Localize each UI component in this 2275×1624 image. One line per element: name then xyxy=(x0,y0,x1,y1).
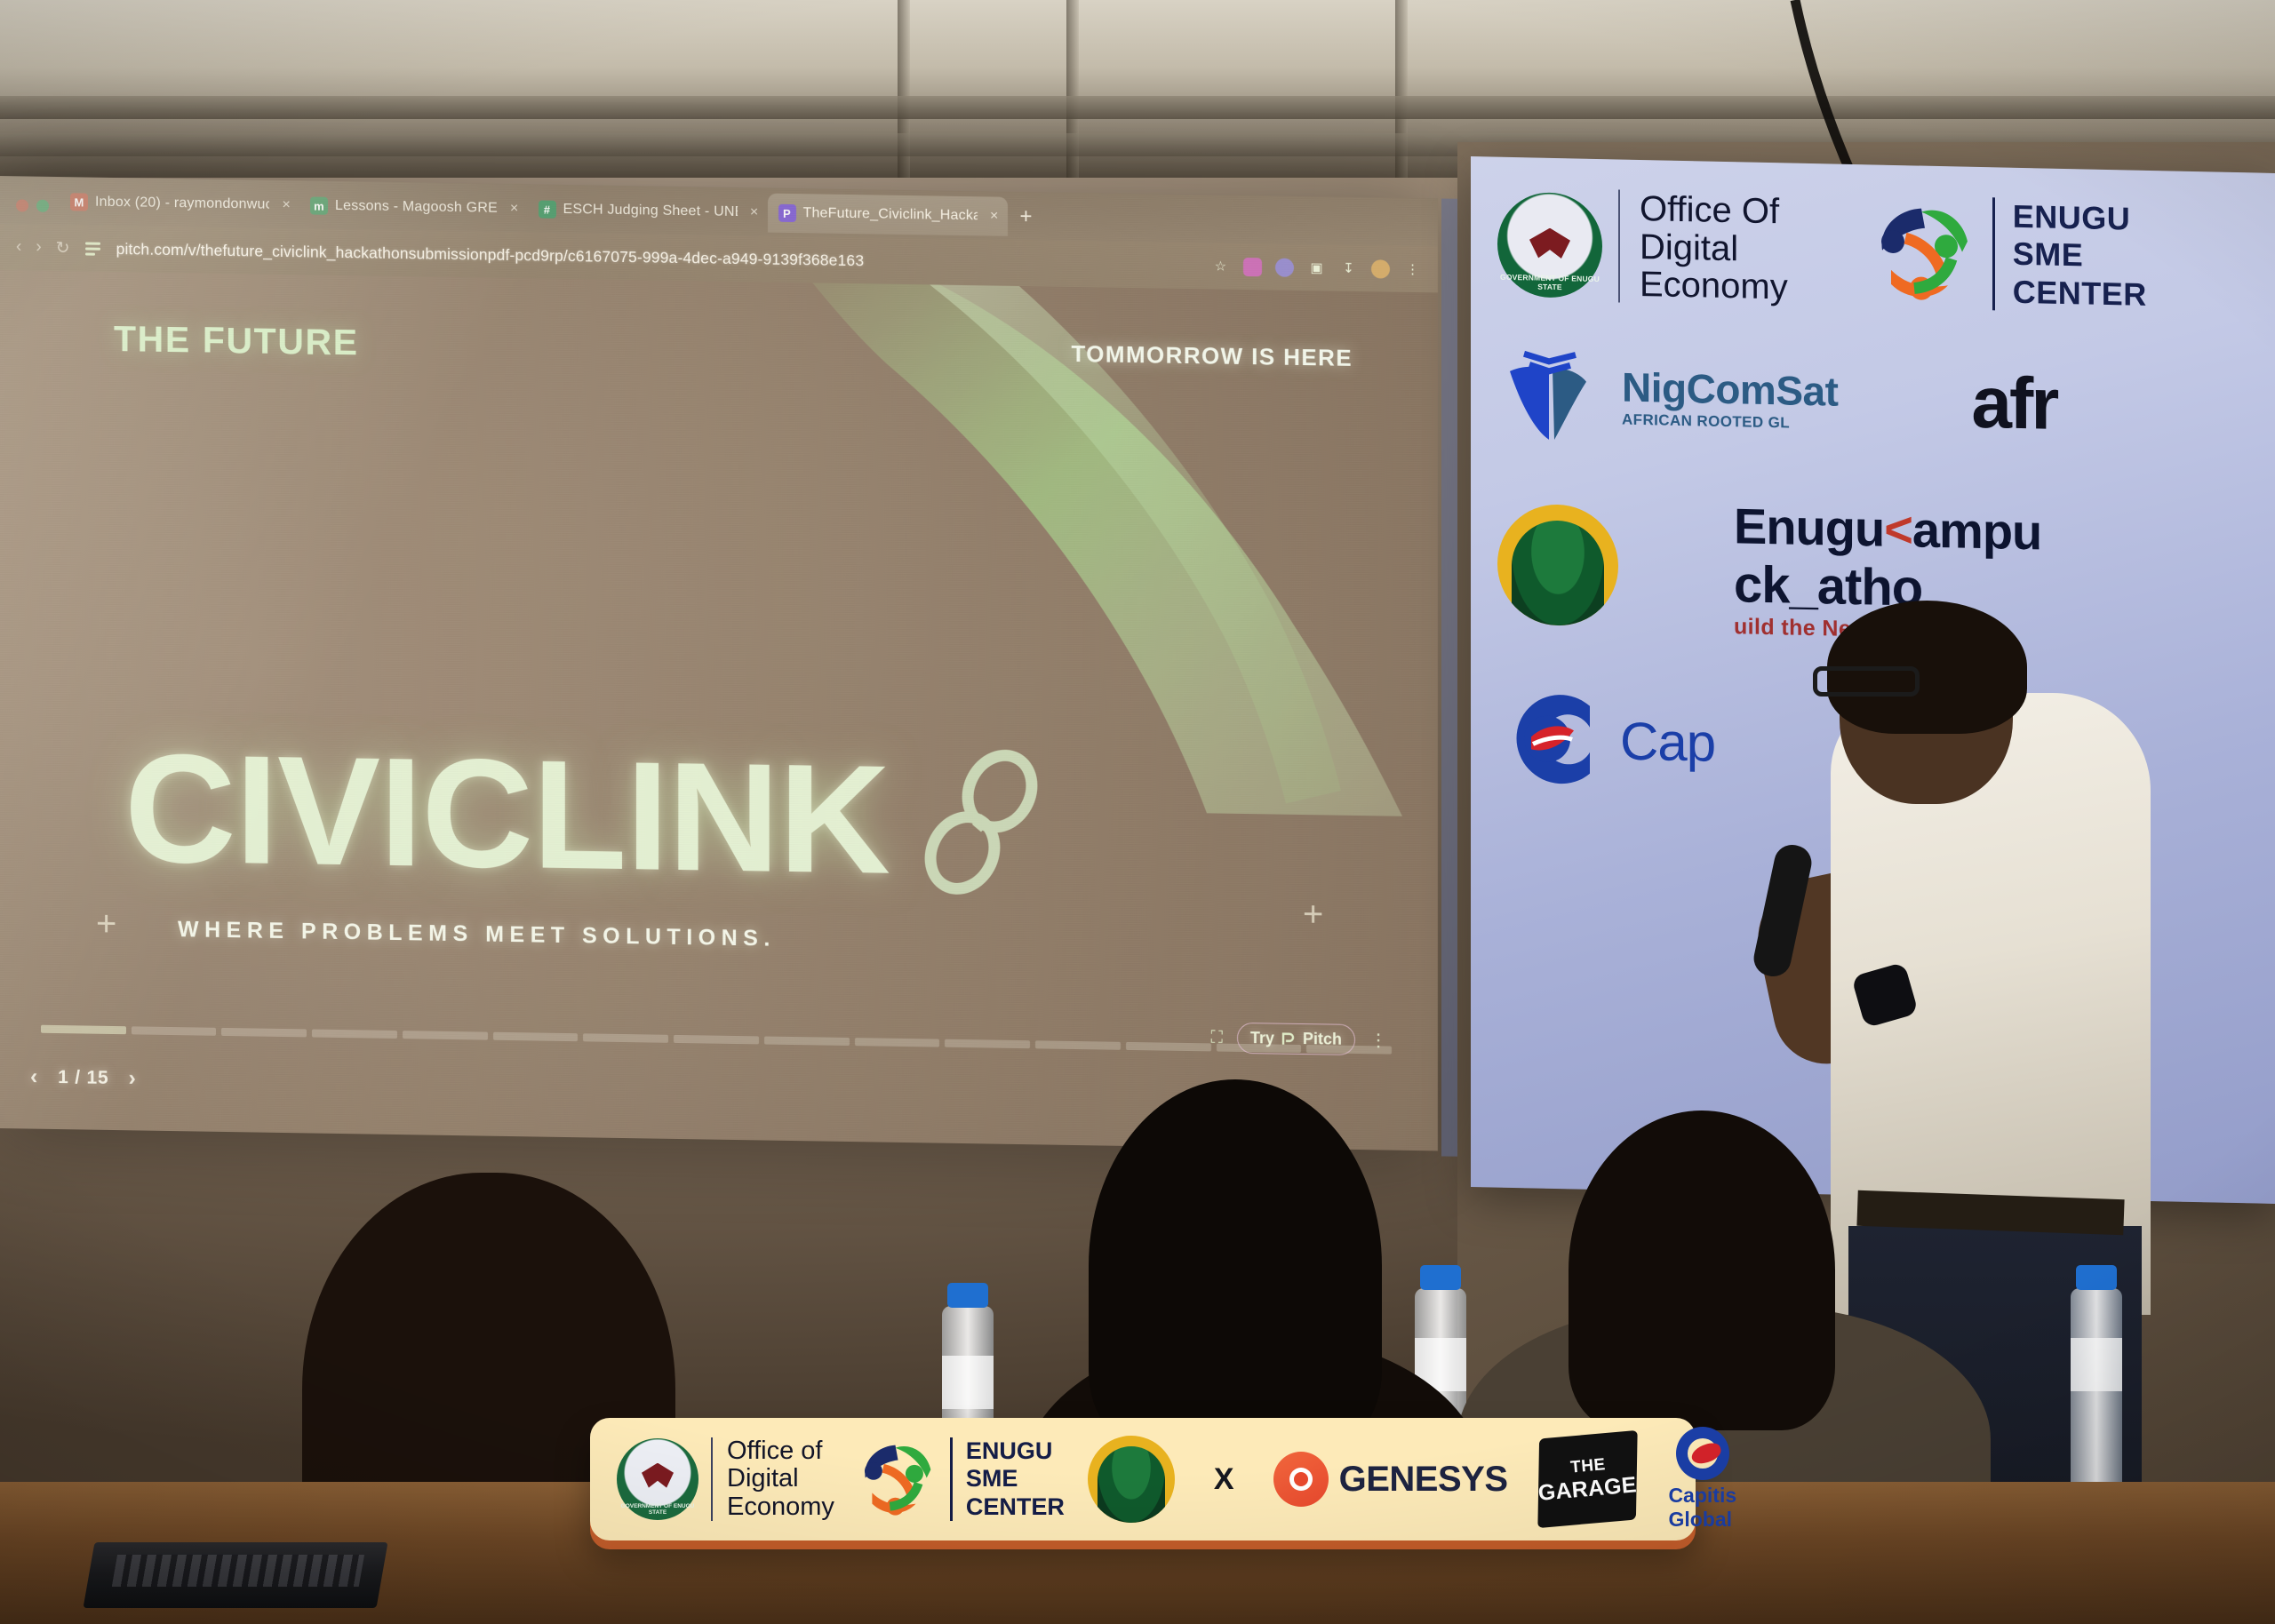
garage-line-1: THE xyxy=(1569,1455,1606,1477)
event-title-enugu: Enugu xyxy=(1734,498,1884,558)
tab-title: Inbox (20) - raymondonwuc xyxy=(95,195,269,213)
backdrop-row-1: GOVERNMENT OF ENUGU STATE Office Of Digi… xyxy=(1497,187,2248,316)
page-title: CIVICLINK xyxy=(124,741,890,886)
window-controls[interactable] xyxy=(7,199,60,221)
afr-logo-label: afr xyxy=(1971,362,2056,447)
tab-title: ESCH Judging Sheet - UNEC xyxy=(563,202,738,220)
sme-line-1: ENUGU xyxy=(2013,198,2147,239)
pitch-icon: P xyxy=(778,204,796,222)
kebab-menu-icon[interactable]: ⋮ xyxy=(1369,1029,1386,1051)
magoosh-icon: m xyxy=(310,196,328,214)
page-indicator: 1 / 15 xyxy=(58,1067,108,1089)
back-icon[interactable]: ‹ xyxy=(16,237,21,257)
progress-segment[interactable] xyxy=(221,1028,307,1038)
chain-link-icon xyxy=(913,747,1046,900)
office-of-digital-economy-label: Office of Digital Economy xyxy=(711,1437,834,1521)
laptop xyxy=(83,1542,387,1608)
extensions-puzzle-icon[interactable]: ▣ xyxy=(1307,259,1326,277)
reload-icon[interactable]: ↻ xyxy=(56,237,70,258)
capitis-global-logo-icon xyxy=(1676,1427,1729,1480)
slide-header: THE FUTURE TOMMORROW IS HERE xyxy=(0,316,1438,380)
sponsor-genesys: GENESYS xyxy=(1273,1452,1508,1507)
try-pitch-button[interactable]: Try Pitch xyxy=(1237,1023,1355,1055)
audience-member-head xyxy=(1089,1079,1382,1453)
enugu-sme-center-label: ENUGU SME CENTER xyxy=(1992,197,2147,314)
browser-toolbar-icons: ☆ ▣ ↧ ⋮ xyxy=(1211,257,1422,279)
close-tab-button[interactable]: × xyxy=(985,208,999,224)
partnership-x-separator: X xyxy=(1214,1462,1234,1497)
enugu-sme-center-logo-icon xyxy=(856,1438,938,1520)
browser-tab-judging-sheet[interactable]: # ESCH Judging Sheet - UNEC × xyxy=(528,189,768,232)
sme-line-3: CENTER xyxy=(966,1493,1065,1521)
slide-kicker-left: THE FUTURE xyxy=(114,318,359,363)
chrome-menu-kebab-icon[interactable]: ⋮ xyxy=(1403,259,1422,278)
capitis-global-logo-icon xyxy=(1497,685,1604,794)
projected-browser-window: M Inbox (20) - raymondonwuc × m Lessons … xyxy=(0,176,1438,1150)
close-tab-button[interactable]: × xyxy=(745,204,759,220)
progress-segment[interactable] xyxy=(855,1038,940,1047)
sme-line-3: CENTER xyxy=(2013,274,2147,314)
fullscreen-icon[interactable]: ⛶ xyxy=(1211,1028,1223,1047)
sponsor-enugu-sme-center: ENUGU SME CENTER xyxy=(834,1437,1065,1521)
progress-segment[interactable] xyxy=(945,1039,1030,1049)
site-info-icon[interactable] xyxy=(84,240,102,256)
extension-purple-icon[interactable] xyxy=(1275,258,1294,276)
nigeria-coat-of-arms-seal-icon: GOVERNMENT OF ENUGU STATE xyxy=(1497,191,1602,298)
browser-tab-pitch-deck[interactable]: P TheFuture_Civiclink_Hackat × xyxy=(768,194,1008,236)
ode-line-3: Economy xyxy=(727,1493,834,1521)
ode-line-3: Economy xyxy=(1640,266,1788,306)
event-title-line-1: Enugu<ampu xyxy=(1734,498,2041,561)
close-tab-button[interactable]: × xyxy=(276,197,291,213)
plus-decoration-right: + xyxy=(1303,895,1323,935)
plus-decoration-left: + xyxy=(96,904,116,944)
event-title-chevron: < xyxy=(1884,501,1912,558)
seal-ring-text: GOVERNMENT OF ENUGU STATE xyxy=(1497,272,1602,291)
progress-segment[interactable] xyxy=(493,1032,579,1042)
download-icon[interactable]: ↧ xyxy=(1339,259,1358,277)
slide-hero: CIVICLINK xyxy=(124,729,1046,900)
tab-title: TheFuture_Civiclink_Hackat xyxy=(803,205,978,224)
tab-title: Lessons - Magoosh GRE xyxy=(335,198,498,217)
genesys-label: GENESYS xyxy=(1339,1460,1508,1500)
event-title-campus: ampu xyxy=(1912,502,2041,561)
sme-line-1: ENUGU xyxy=(966,1437,1065,1465)
slide-pager: ‹ 1 / 15 › xyxy=(30,1064,137,1092)
enugu-sme-center-logo-icon xyxy=(1870,198,1976,307)
capitis-label: Cap xyxy=(1620,710,1715,773)
new-tab-button[interactable]: + xyxy=(1008,204,1045,237)
the-garage-logo-icon: THE GARAGE xyxy=(1537,1430,1637,1528)
slide-progress-bar[interactable] xyxy=(41,1025,1392,1055)
next-slide-button[interactable]: › xyxy=(128,1065,136,1091)
capitis-global-label: Capitis Global xyxy=(1668,1484,1736,1532)
genesys-logo-icon xyxy=(1273,1452,1329,1507)
gmail-icon: M xyxy=(70,193,88,211)
close-tab-button[interactable]: × xyxy=(505,201,519,217)
governor-portrait-badge-icon xyxy=(1497,504,1618,627)
profile-avatar-icon[interactable] xyxy=(1371,259,1390,278)
extension-pink-icon[interactable] xyxy=(1243,257,1262,275)
try-label: Try xyxy=(1250,1029,1274,1047)
speaker-glasses xyxy=(1813,666,1920,697)
nigeria-coat-of-arms-seal-icon: GOVERNMENT OF ENUGU STATE xyxy=(617,1438,698,1520)
sme-line-2: SME xyxy=(966,1465,1065,1493)
governor-portrait-badge-icon xyxy=(1088,1436,1175,1523)
pitch-slide: THE FUTURE TOMMORROW IS HERE CIVICLINK W… xyxy=(0,270,1438,1150)
screenshot-root: M Inbox (20) - raymondonwuc × m Lessons … xyxy=(0,0,2275,1624)
ode-line-2: Digital xyxy=(1640,227,1788,268)
forward-icon[interactable]: › xyxy=(36,238,41,258)
nigcomsat-logo-icon xyxy=(1497,341,1602,448)
pitch-brand-label: Pitch xyxy=(1303,1030,1342,1049)
progress-segment[interactable] xyxy=(583,1033,668,1043)
slide-tagline: WHERE PROBLEMS MEET SOLUTIONS. xyxy=(178,917,776,952)
office-of-digital-economy-label: Office Of Digital Economy xyxy=(1618,190,1788,306)
progress-segment[interactable] xyxy=(41,1025,126,1035)
prev-slide-button[interactable]: ‹ xyxy=(30,1064,38,1090)
ode-line-1: Office Of xyxy=(1640,190,1788,231)
bookmark-star-icon[interactable]: ☆ xyxy=(1211,257,1230,275)
browser-tab-magoosh[interactable]: m Lessons - Magoosh GRE × xyxy=(299,186,528,228)
ode-line-1: Office of xyxy=(727,1437,834,1465)
google-sheets-icon: # xyxy=(539,201,556,219)
pitch-logo-icon xyxy=(1281,1031,1296,1046)
progress-segment[interactable] xyxy=(403,1031,488,1040)
sponsor-office-of-digital-economy: GOVERNMENT OF ENUGU STATE Office of Digi… xyxy=(617,1437,834,1521)
progress-segment[interactable] xyxy=(674,1035,759,1045)
sponsor-overlay-bar: GOVERNMENT OF ENUGU STATE Office of Digi… xyxy=(590,1418,1696,1540)
nigcomsat-label: NigComSat xyxy=(1622,363,1838,416)
slide-kicker-right: TOMMORROW IS HERE xyxy=(1071,340,1353,372)
water-bottle xyxy=(2071,1288,2122,1510)
url-text[interactable]: pitch.com/v/thefuture_civiclink_hackatho… xyxy=(116,240,1197,275)
sponsor-capitis-global: Capitis Global xyxy=(1668,1427,1736,1532)
backdrop-row-2: NigComSat AFRICAN ROOTED GL afr xyxy=(1497,341,2248,462)
ode-line-2: Digital xyxy=(727,1465,834,1493)
progress-segment[interactable] xyxy=(764,1037,850,1047)
minimize-window-button[interactable] xyxy=(36,200,49,212)
progress-segment[interactable] xyxy=(1035,1040,1121,1050)
progress-segment[interactable] xyxy=(1126,1042,1211,1052)
sme-line-2: SME xyxy=(2013,235,2147,276)
slide-brand-controls: ⛶ Try Pitch ⋮ xyxy=(1211,1022,1386,1055)
garage-line-2: GARAGE xyxy=(1537,1472,1637,1507)
progress-segment[interactable] xyxy=(312,1030,397,1039)
enugu-sme-center-label: ENUGU SME CENTER xyxy=(950,1437,1065,1521)
close-window-button[interactable] xyxy=(16,199,28,211)
seal-ring-text: GOVERNMENT OF ENUGU STATE xyxy=(617,1503,698,1516)
progress-segment[interactable] xyxy=(132,1026,217,1036)
audience-member-head xyxy=(1569,1111,1835,1430)
browser-tab-inbox[interactable]: M Inbox (20) - raymondonwuc × xyxy=(60,182,299,225)
